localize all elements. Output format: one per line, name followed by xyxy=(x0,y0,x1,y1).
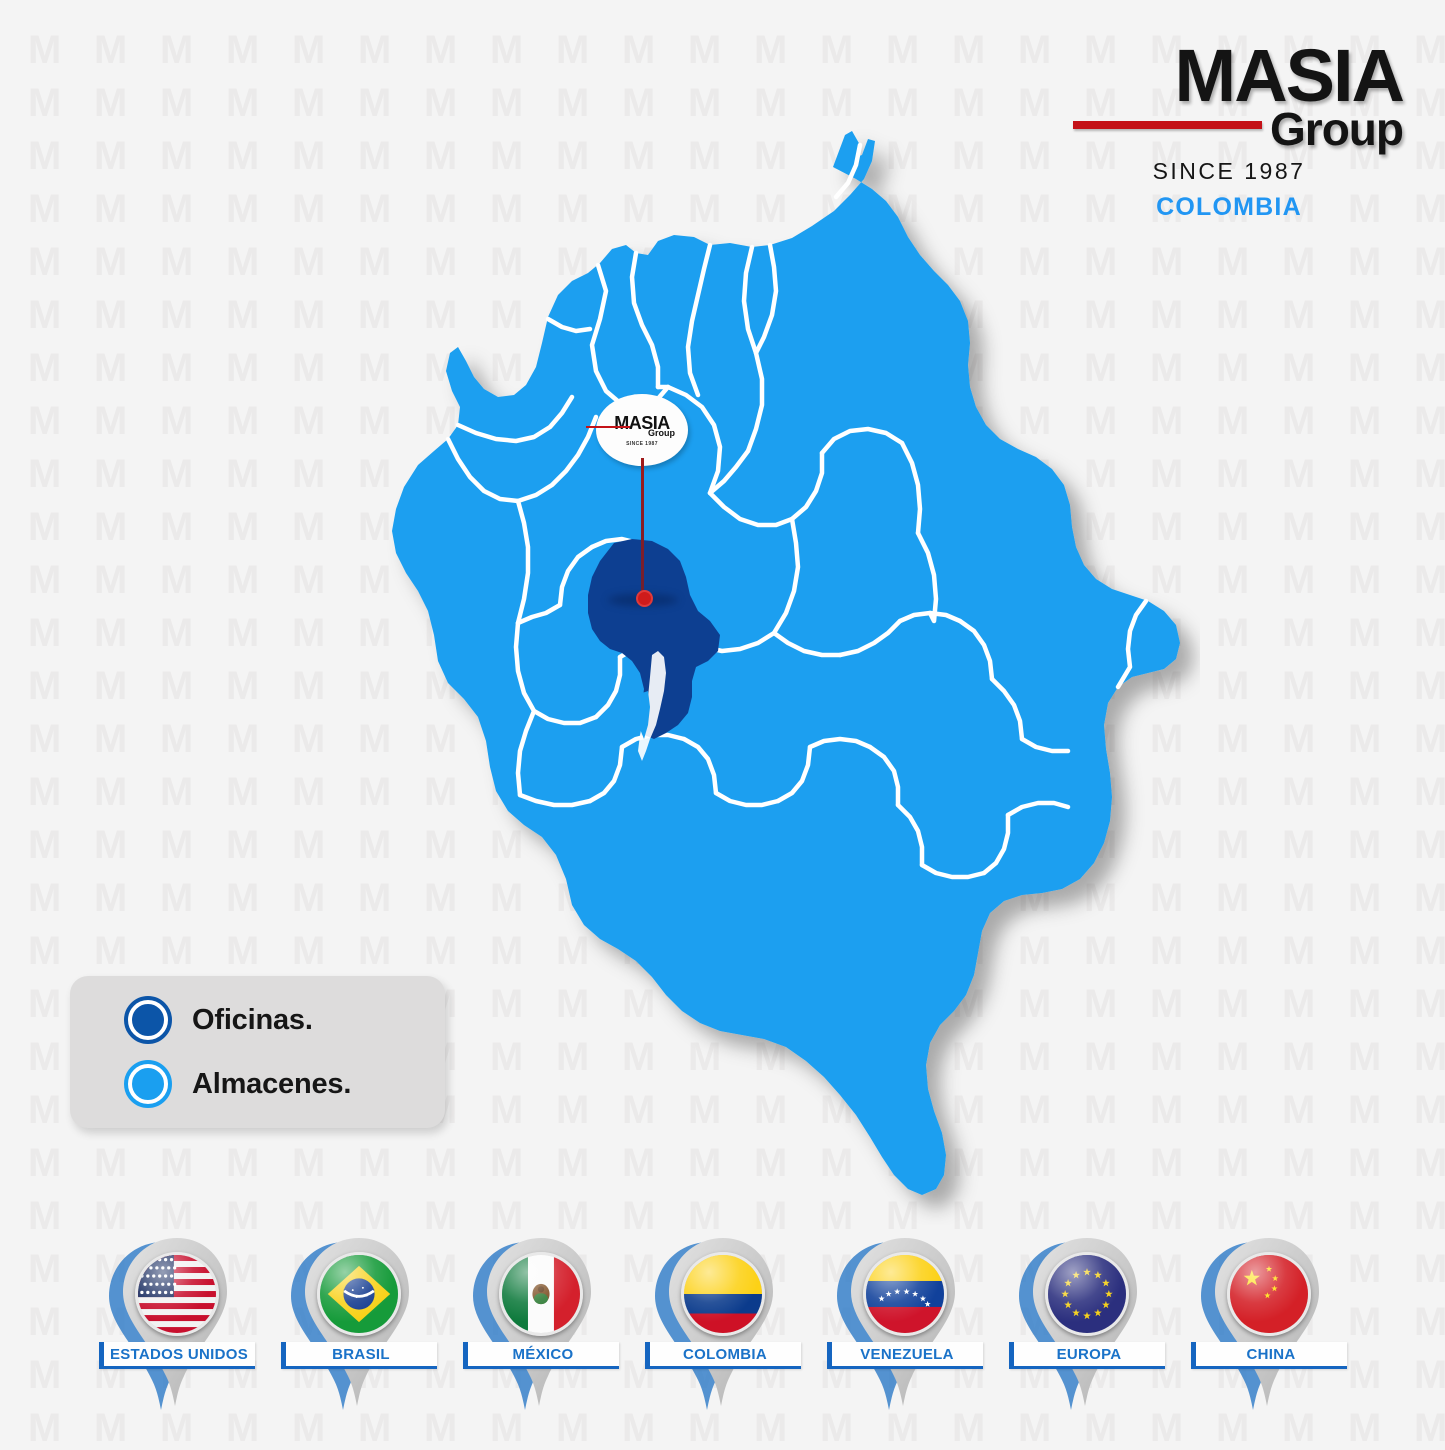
legend-item-almacenes[interactable]: Almacenes. xyxy=(124,1060,445,1108)
map-landmass xyxy=(392,131,1180,1195)
callout-since: SINCE 1987 xyxy=(626,441,658,447)
eu-flag-icon xyxy=(1045,1252,1129,1336)
country-pins-row: ESTADOS UNIDOSBRASILMÉXICOCOLOMBIAVENEZU… xyxy=(0,1236,1445,1421)
country-pin-brasil[interactable]: BRASIL xyxy=(279,1236,439,1421)
logo-since-text: SINCE 1987 xyxy=(1073,158,1403,185)
country-pin-label: MÉXICO xyxy=(463,1342,619,1369)
legend-label-oficinas: Oficinas. xyxy=(192,1004,313,1037)
country-pin-estados-unidos[interactable]: ESTADOS UNIDOS xyxy=(97,1236,257,1421)
masia-group-logo: MASIA Group SINCE 1987 COLOMBIA xyxy=(1073,42,1403,222)
map-legend: Oficinas. Almacenes. xyxy=(70,976,445,1128)
callout-location-dot xyxy=(636,590,653,607)
logo-wordmark: MASIA xyxy=(1073,42,1403,110)
logo-country-text: COLOMBIA xyxy=(1073,193,1403,222)
logo-group-text: Group xyxy=(1270,108,1403,152)
country-pin-label: COLOMBIA xyxy=(645,1342,801,1369)
filled-circle-icon xyxy=(124,996,172,1044)
ve-flag-icon xyxy=(863,1252,947,1336)
country-pin-china[interactable]: CHINA xyxy=(1189,1236,1349,1421)
legend-label-almacenes: Almacenes. xyxy=(192,1068,351,1101)
filled-circle-icon xyxy=(124,1060,172,1108)
callout-stem-line xyxy=(641,458,644,598)
country-pin-venezuela[interactable]: VENEZUELA xyxy=(825,1236,985,1421)
country-pin-europa[interactable]: EUROPA xyxy=(1007,1236,1167,1421)
us-flag-icon xyxy=(135,1252,219,1336)
country-pin-m-xico[interactable]: MÉXICO xyxy=(461,1236,621,1421)
callout-logo-bubble: MASIA Group SINCE 1987 xyxy=(596,394,688,466)
br-flag-icon xyxy=(317,1252,401,1336)
country-pin-label: EUROPA xyxy=(1009,1342,1165,1369)
country-pin-label: CHINA xyxy=(1191,1342,1347,1369)
country-pin-colombia[interactable]: COLOMBIA xyxy=(643,1236,803,1421)
country-pin-label: BRASIL xyxy=(281,1342,437,1369)
country-pin-label: ESTADOS UNIDOS xyxy=(99,1342,255,1369)
callout-subtitle: Group xyxy=(648,429,675,438)
cn-flag-icon xyxy=(1227,1252,1311,1336)
co-flag-icon xyxy=(681,1252,765,1336)
callout-red-bar xyxy=(586,426,630,428)
mx-flag-icon xyxy=(499,1252,583,1336)
country-pin-label: VENEZUELA xyxy=(827,1342,983,1369)
logo-red-bar-icon xyxy=(1073,121,1262,129)
legend-item-oficinas[interactable]: Oficinas. xyxy=(124,996,445,1044)
masia-map-callout[interactable]: MASIA Group SINCE 1987 xyxy=(596,394,688,472)
